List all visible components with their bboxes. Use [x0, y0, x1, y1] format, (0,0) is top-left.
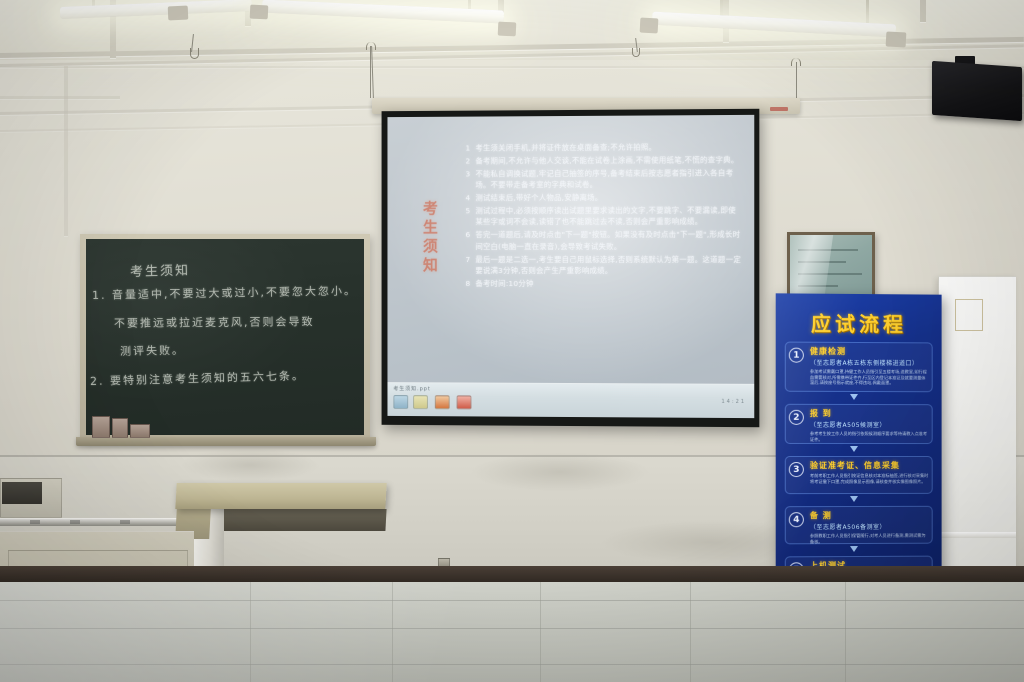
taskbar-window-title: 考生须知.ppt: [393, 385, 430, 392]
step-subtitle: （至志愿者A栋五栋东侧楼梯进道口）: [810, 358, 929, 368]
podium-underside: [209, 509, 386, 531]
list-item: 6 答完一道题后,请及时点击"下一题"按钮。如果没有及时点击"下一题",形成长时…: [463, 229, 743, 252]
whiteboard-note: [955, 299, 983, 331]
slide-item-num: 5: [463, 205, 471, 228]
ceiling-hook-left: [366, 42, 376, 50]
windows-taskbar[interactable]: 考生须知.ppt 14:21: [387, 382, 754, 418]
floor-sheen: [0, 582, 1024, 682]
light-cap-3: [498, 22, 517, 37]
banner-step-1: 1 健康检测 （至志愿者A栋五栋东侧楼梯进道口） 参加考试需戴口罩,持健工作人员…: [785, 342, 933, 393]
blackboard-heading: 考生须知: [130, 259, 190, 280]
banner-step-2: 2 报 到 （至志愿者A505候测室） 参考考生按工作人员的指引依照候测顺序要求…: [785, 404, 933, 444]
taskbar-powerpoint-icon[interactable]: [457, 395, 472, 409]
ceiling-rib-5: [920, 0, 926, 22]
wall-hook-1: [190, 48, 199, 59]
slide-item-num: 7: [463, 254, 471, 277]
step-body: 考前考职工作人员指引按证信息核对本准标抽签,进行核对采集时将考证撤下口罩,完成照…: [810, 473, 929, 484]
flow-arrow-icon: [850, 546, 858, 552]
light-cap-4: [640, 18, 659, 34]
blackboard-surface: 考生须知 1. 音量适中,不要过大或过小,不要忽大忽小。 不要推远或拉近麦克风,…: [86, 239, 364, 435]
slide-item-text: 不能私自调换试题,牢记自己抽签的序号,备考结束后按志愿者指引进入各自考场。不要带…: [475, 167, 742, 191]
light-cap-1: [168, 6, 189, 21]
slide-item-text: 考生须关闭手机,并将证件放在桌面备查;不允许拍照。: [475, 141, 742, 154]
whiteboard: [938, 276, 1016, 576]
taskbar-home-icon[interactable]: [435, 395, 450, 409]
list-item: 4 测试结束后,带好个人物品,安静离场。: [463, 192, 743, 204]
whiteboard-tray: [939, 532, 1016, 538]
step-subtitle: （至志愿者A506备测室）: [810, 522, 929, 531]
banner-step-4: 4 备 测 （至志愿者A506备测室） 参照教职工作人员指引保管随行,对考人员进…: [785, 506, 933, 545]
step-title: 备 测: [810, 510, 929, 521]
projection-screen: 考生须知 1 考生须关闭手机,并将证件放在桌面备查;不允许拍照。 2 备考期间,…: [382, 109, 760, 427]
slide-item-num: 8: [463, 278, 471, 289]
ceiling-hook-right: [791, 58, 801, 66]
chalk-box-1: [92, 416, 110, 438]
list-item: 7 最后一题是二选一,考生要自己用鼠标选择,否则系统默认为第一题。这道题一定要说…: [463, 254, 743, 277]
step-body: 参考考生按工作人员的指引依照候测顺序要求等待请教入点准考证件。: [810, 431, 929, 442]
wall-hook-2: [632, 48, 640, 57]
blackboard-line-1: 1. 音量适中,不要过大或过小,不要忽大忽小。: [92, 282, 357, 303]
list-item: 3 不能私自调换试题,牢记自己抽签的序号,备考结束后按志愿者指引进入各自考场。不…: [463, 167, 743, 191]
chalk-box-2: [112, 418, 128, 438]
light-cap-2: [250, 5, 269, 20]
slide-item-num: 3: [463, 168, 471, 191]
hanging-wire-4: [796, 62, 797, 102]
taskbar-clock: 14:21: [721, 399, 746, 405]
podium-desktop: [175, 483, 386, 509]
wall-pilaster: [64, 66, 68, 236]
projection-screen-surface: 考生须知 1 考生须关闭手机,并将证件放在桌面备查;不允许拍照。 2 备考期间,…: [387, 115, 754, 418]
flow-arrow-icon: [850, 446, 858, 452]
slide-item-num: 1: [463, 143, 471, 154]
flow-arrow-icon: [850, 394, 858, 400]
list-item: 5 测试过程中,必须按顺序读出试题里要求读出的文字,不要跳字、不要漏读,即使某些…: [463, 205, 743, 228]
blackboard-line-2: 不要推远或拉近麦克风,否则会导致: [114, 313, 315, 331]
screen-case-label: [770, 107, 788, 111]
slide: 考生须知 1 考生须关闭手机,并将证件放在桌面备查;不允许拍照。 2 备考期间,…: [387, 115, 754, 384]
slide-item-text: 备考时间:10分钟: [475, 278, 742, 290]
list-item: 2 备考期间,不允许与他人交谈,不能在试卷上涂画,不需使用纸笔,不慌的查字典。: [463, 154, 743, 167]
blackboard: 考生须知 1. 音量适中,不要过大或过小,不要忽大忽小。 不要推远或拉近麦克风,…: [80, 234, 370, 442]
blackboard-line-3: 测评失败。: [120, 342, 185, 359]
blackboard-line-4: 2. 要特别注意考生须知的五六七条。: [90, 367, 305, 389]
wall-stain-1: [470, 452, 650, 492]
flow-arrow-icon: [850, 496, 858, 502]
wall-trim-left: [0, 96, 120, 99]
step-subtitle: （至志愿者A505候测室）: [810, 420, 929, 429]
step-title: 健康检测: [810, 346, 929, 358]
slide-item-text: 最后一题是二选一,考生要自己用鼠标选择,否则系统默认为第一题。这道题一定要说满3…: [475, 254, 742, 277]
light-cap-5: [886, 31, 907, 47]
slide-item-text: 备考期间,不允许与他人交谈,不能在试卷上涂画,不需使用纸笔,不慌的查字典。: [475, 154, 742, 167]
chalk-tray: [76, 437, 376, 446]
step-body: 参加考试需戴口罩,持健工作人员指引至五楼考场,进教室,如行程血需要核对,所需携带…: [810, 369, 929, 386]
step-title: 报 到: [810, 408, 929, 419]
banner-step-3: 3 验证准考证、信息采集 考前考职工作人员指引按证信息核对本准标抽签,进行核对采…: [785, 456, 933, 494]
slide-item-text: 测试结束后,带好个人物品,安静离场。: [475, 192, 742, 204]
banner-title: 应试流程: [776, 307, 942, 337]
slide-item-num: 2: [463, 155, 471, 166]
wall-stain-2: [180, 448, 320, 482]
rail-mark-2: [70, 520, 80, 524]
slide-item-text: 测试过程中,必须按顺序读出试题里要求读出的文字,不要跳字、不要漏读,即使某些字或…: [475, 205, 742, 228]
step-title: 验证准考证、信息采集: [810, 460, 929, 471]
step-number: 2: [789, 410, 804, 425]
speaker-icon: [932, 61, 1022, 121]
taskbar-back-icon[interactable]: [393, 395, 408, 409]
slide-item-text: 答完一道题后,请及时点击"下一题"按钮。如果没有及时点击"下一题",形成长时间空…: [475, 229, 742, 252]
list-item: 1 考生须关闭手机,并将证件放在桌面备查;不允许拍照。: [463, 141, 743, 154]
chalk-box-3: [130, 424, 150, 438]
rail-mark-1: [30, 520, 40, 524]
side-shelf-opening: [2, 482, 42, 504]
wall-trim-line: [0, 66, 1024, 68]
classroom-photo: 考生须知 1. 音量适中,不要过大或过小,不要忽大忽小。 不要推远或拉近麦克风,…: [0, 0, 1024, 682]
step-number: 3: [789, 462, 804, 477]
rail-mark-3: [120, 520, 130, 524]
slide-item-num: 6: [463, 229, 471, 252]
step-body: 参照教职工作人员指引保管随行,对考人员进行备测,需测试需为备核。: [810, 533, 929, 545]
taskbar-folder-icon[interactable]: [413, 395, 428, 409]
slide-item-num: 4: [463, 192, 471, 203]
step-number: 1: [789, 348, 804, 363]
step-number: 4: [789, 512, 804, 527]
list-item: 8 备考时间:10分钟: [463, 278, 743, 290]
slide-list: 1 考生须关闭手机,并将证件放在桌面备查;不允许拍照。 2 备考期间,不允许与他…: [463, 141, 743, 291]
slide-vertical-title: 考生须知: [413, 200, 439, 276]
